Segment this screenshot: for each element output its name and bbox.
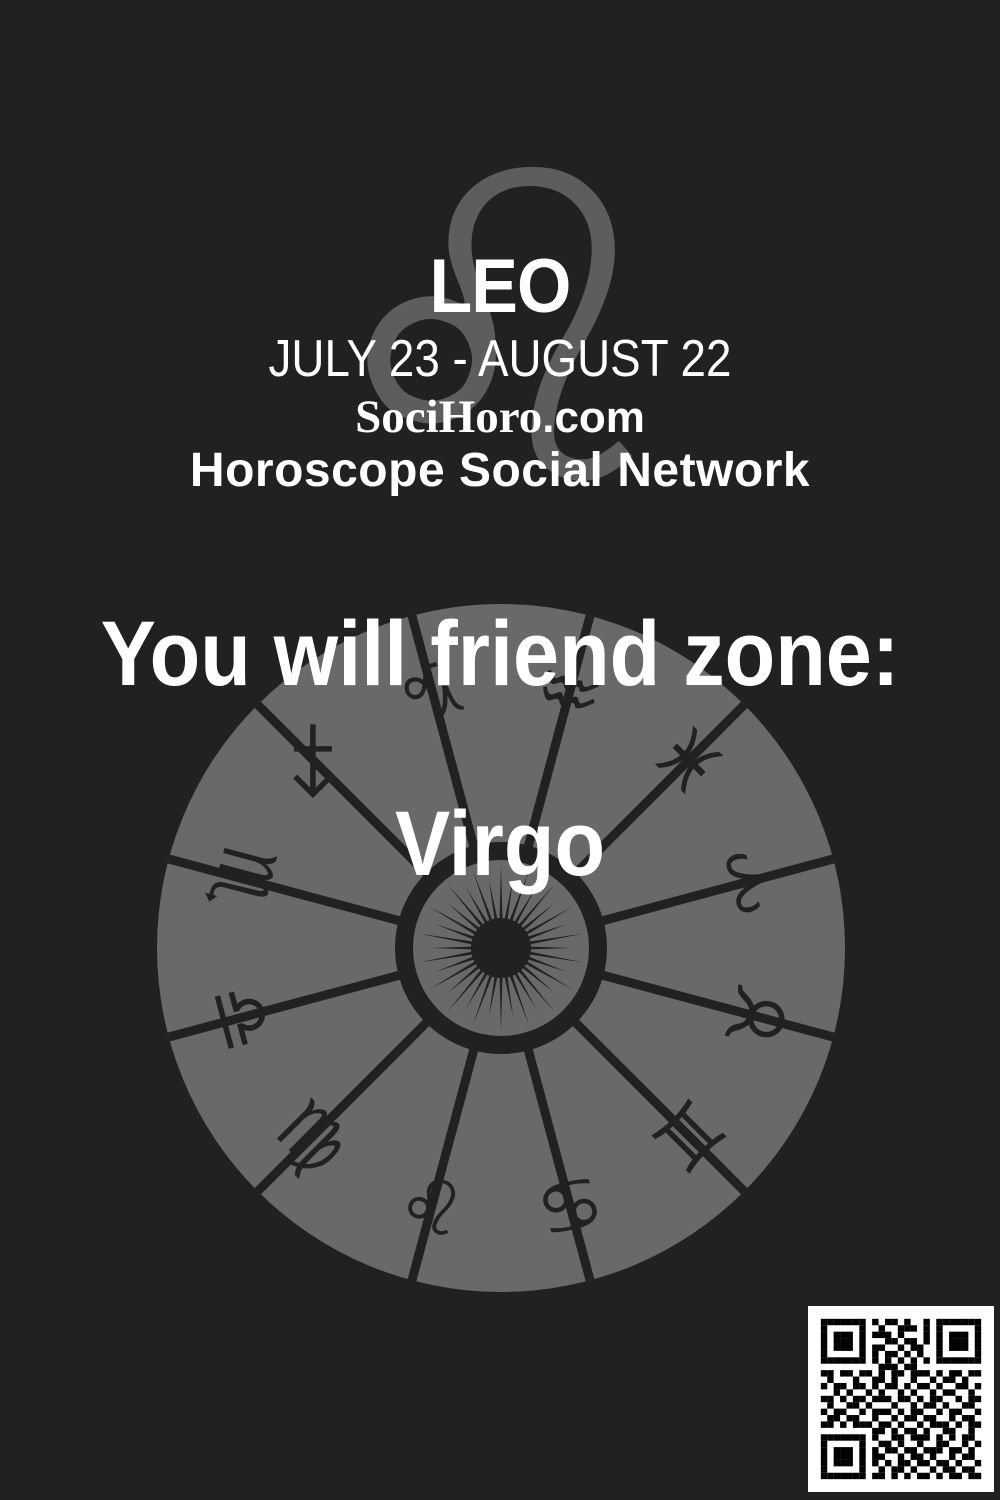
brand-name-main: SociHoro bbox=[355, 391, 542, 443]
brand-tagline: Horoscope Social Network bbox=[0, 447, 1000, 495]
sign-name: LEO bbox=[40, 249, 960, 325]
sign-date-range: JULY 23 - AUGUST 22 bbox=[60, 333, 940, 385]
qr-code-svg bbox=[808, 1306, 994, 1492]
horoscope-poster: ♌ ♒♓♈♉♊♋♌♍♎♏♐♑ LEO JULY 23 - AUGUST 22 S… bbox=[0, 0, 1000, 1500]
qr-code[interactable] bbox=[795, 1295, 1000, 1500]
brand-name: SociHoro.com bbox=[0, 392, 1000, 441]
prediction-value: Virgo bbox=[50, 798, 950, 890]
zodiac-wheel-svg: ♒♓♈♉♊♋♌♍♎♏♐♑ bbox=[154, 601, 848, 1295]
prediction-headline: You will friend zone: bbox=[50, 608, 950, 700]
brand-name-tld: .com bbox=[542, 393, 645, 442]
qr-code-modules bbox=[808, 1306, 994, 1492]
zodiac-wheel: ♒♓♈♉♊♋♌♍♎♏♐♑ bbox=[154, 601, 848, 1295]
